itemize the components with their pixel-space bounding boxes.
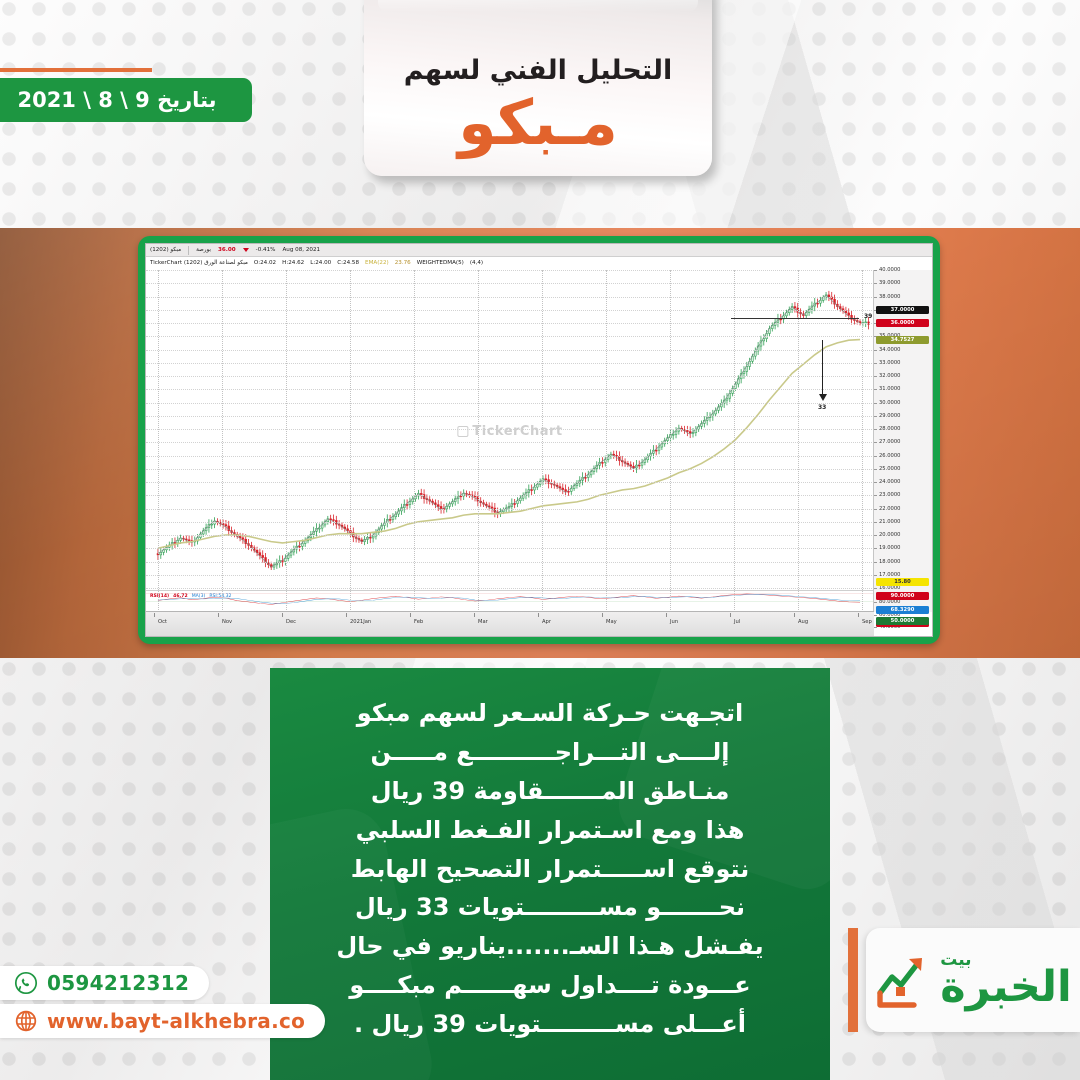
whatsapp-icon [14, 971, 38, 995]
chart-change-pct: -0.41% [256, 245, 276, 256]
contact-website[interactable]: www.bayt-alkhebra.co [0, 1004, 325, 1038]
grid-vline [606, 270, 607, 612]
rsi-badge: 50.0000 [876, 617, 929, 625]
price-badge: 34.7527 [876, 336, 929, 344]
grid-vline [734, 270, 735, 612]
analysis-line-8: عـــودة تــــداول سهــــــم مبكــــو [292, 966, 808, 1005]
watermark-box-icon [457, 426, 468, 437]
date-tick: Feb [414, 619, 423, 625]
grid-vline [670, 270, 671, 612]
grid-hline [146, 456, 874, 457]
grid-hline [146, 469, 874, 470]
price-tick: 33.0000 [879, 361, 900, 366]
grid-vline [862, 270, 863, 612]
watermark-text: TickerChart [472, 424, 562, 439]
chart-plot-area: TickerChart 39 33 RSI(14) 46.72 MA(3) RS… [146, 270, 874, 612]
title-card: التحليل الفني لسهم مـبكو [364, 0, 712, 176]
grid-hline [146, 403, 874, 404]
analysis-line-9: أعـــلى مســـــــــتويات 39 ريال . [292, 1005, 808, 1044]
grid-hline [146, 509, 874, 510]
title-card-sheen [378, 0, 698, 12]
grid-hline [146, 416, 874, 417]
logo-accent-stripe [848, 928, 858, 1032]
rsi-pane: RSI(14) 46.72 MA(3) RSI:54.32 [146, 590, 874, 612]
price-tick: 25.0000 [879, 467, 900, 472]
grid-hline [146, 283, 874, 284]
target-arrow-stem [822, 340, 823, 396]
grid-hline [146, 575, 874, 576]
price-tick: 16.0000 [879, 586, 900, 591]
ohlc-low: L:24.00 [310, 258, 331, 269]
chart-date: Aug 08, 2021 [282, 245, 320, 256]
grid-hline [146, 350, 874, 351]
date-axis: OctNovDec2021JanFebMarAprMayJunJulAugSep [146, 611, 874, 636]
price-axis: 40.000039.000038.000037.000036.000035.00… [873, 270, 932, 612]
grid-hline [146, 588, 874, 589]
rsi-value: 46.72 [173, 591, 188, 602]
date-tick: Oct [158, 619, 167, 625]
grid-vline [222, 270, 223, 612]
grid-hline [146, 310, 874, 311]
grid-vline [542, 270, 543, 612]
target-label: 33 [818, 404, 826, 411]
date-tick: May [606, 619, 617, 625]
grid-hline [146, 562, 874, 563]
ohlc-source: TickerChart مبكو لصناعة الورق (1202) [150, 258, 248, 269]
analysis-line-3: منـاطق المـــــــقاومة 39 ريال [292, 772, 808, 811]
chart-screenshot: مبكو (1202) بورصة 36.00 -0.41% Aug 08, 2… [145, 243, 933, 637]
grid-vline [286, 270, 287, 612]
price-tick: 34.0000 [879, 348, 900, 353]
rsi-header: RSI(14) 46.72 MA(3) RSI:54.32 [146, 591, 874, 601]
grid-hline [146, 535, 874, 536]
globe-icon [14, 1009, 38, 1033]
analysis-line-7: يفـشل هـذا السـ.......يناريو في حال [292, 927, 808, 966]
grid-hline [146, 389, 874, 390]
grid-hline [146, 522, 874, 523]
chart-frame: مبكو (1202) بورصة 36.00 -0.41% Aug 08, 2… [138, 236, 940, 644]
analysis-line-6: نحـــــــو مســـــــــتويات 33 ريال [292, 888, 808, 927]
grid-vline [478, 270, 479, 612]
price-tick: 38.0000 [879, 295, 900, 300]
page-subtitle: التحليل الفني لسهم [404, 57, 673, 84]
ema-label: EMA(22) [365, 258, 389, 269]
price-badge: 37.0000 [876, 306, 929, 314]
page-title: مـبكو [458, 92, 618, 154]
price-tick: 26.0000 [879, 454, 900, 459]
price-tick: 22.0000 [879, 507, 900, 512]
chart-market: بورصة [196, 245, 211, 256]
grid-hline [146, 482, 874, 483]
price-tick: 21.0000 [879, 520, 900, 525]
grid-hline [146, 336, 874, 337]
grid-hline [146, 548, 874, 549]
price-tick: 20.0000 [879, 533, 900, 538]
price-tick: 29.0000 [879, 414, 900, 419]
price-tick: 39.0000 [879, 281, 900, 286]
price-tick: 28.0000 [879, 427, 900, 432]
price-tick: 27.0000 [879, 440, 900, 445]
logo-wordmark: بيت الخبرة [940, 952, 1072, 1009]
resistance-label: 39 [864, 313, 872, 320]
date-tick: Apr [542, 619, 551, 625]
date-tick: Nov [222, 619, 232, 625]
date-tick: 2021Jan [350, 619, 371, 625]
analysis-panel: اتجـهت حـركة السـعر لسهم مبكوإلــــى الت… [270, 668, 830, 1080]
price-tick: 30.0000 [879, 401, 900, 406]
price-tick: 18.0000 [879, 560, 900, 565]
price-tick: 24.0000 [879, 480, 900, 485]
analysis-line-4: هذا ومع اسـتمرار الفـغط السلبي [292, 811, 808, 850]
phone-number: 0594212312 [47, 971, 189, 995]
grid-hline [146, 323, 874, 324]
price-tick: 19.0000 [879, 546, 900, 551]
rsi-badge: 68.3290 [876, 606, 929, 614]
grid-hline [146, 442, 874, 443]
grid-vline [798, 270, 799, 612]
analysis-line-1: اتجـهت حـركة السـعر لسهم مبكو [292, 694, 808, 733]
rsi-tick: 80.0000 [879, 600, 900, 605]
price-tick: 31.0000 [879, 387, 900, 392]
price-tick: 32.0000 [879, 374, 900, 379]
house-growth-arrow-icon [874, 947, 936, 1013]
wma-label: WEIGHTEDMA(5) [417, 258, 464, 269]
date-tick: Jul [734, 619, 740, 625]
chart-toolbar: مبكو (1202) بورصة 36.00 -0.41% Aug 08, 2… [146, 244, 932, 257]
chart-last-price: 36.00 [218, 245, 236, 256]
date-badge: بتاريخ 9 \ 8 \ 2021 [0, 78, 252, 122]
rsi-ma-value: RSI:54.32 [209, 591, 231, 602]
poster-stage: بتاريخ 9 \ 8 \ 2021 التحليل الفني لسهم م… [0, 0, 1080, 1080]
grid-vline [414, 270, 415, 612]
grid-vline [350, 270, 351, 612]
analysis-line-5: نتوقع اســـــتمرار التصحيح الهابط [292, 850, 808, 889]
ohlc-high: H:24.62 [282, 258, 304, 269]
ema-value: 23.76 [395, 258, 411, 269]
resistance-line [731, 318, 859, 319]
grid-hline [146, 270, 874, 271]
price-tick: 40.0000 [879, 268, 900, 273]
date-tick: Aug [798, 619, 808, 625]
ohlc-close: C:24.58 [337, 258, 359, 269]
ohlc-open: O:24.02 [254, 258, 276, 269]
grid-hline [146, 495, 874, 496]
target-arrow-head [819, 394, 827, 401]
price-tick: 23.0000 [879, 493, 900, 498]
date-tick: Sep [862, 619, 872, 625]
chart-symbol: مبكو (1202) [150, 245, 181, 256]
grid-hline [146, 429, 874, 430]
brand-logo[interactable]: بيت الخبرة [866, 928, 1080, 1032]
grid-vline [158, 270, 159, 612]
grid-hline [146, 376, 874, 377]
grid-hline [146, 297, 874, 298]
chart-ohlc-row: TickerChart مبكو لصناعة الورق (1202) O:2… [146, 257, 932, 270]
tickerchart-watermark: TickerChart [457, 424, 562, 439]
price-pane: TickerChart 39 33 [146, 270, 874, 588]
date-accent-rule [0, 68, 152, 72]
triangle-down-icon [243, 248, 249, 252]
date-tick: Jun [670, 619, 678, 625]
price-badge: 36.0000 [876, 319, 929, 327]
website-url: www.bayt-alkhebra.co [47, 1009, 305, 1033]
logo-main-word: الخبرة [940, 966, 1072, 1009]
rsi-badge: 90.0000 [876, 592, 929, 600]
analysis-line-2: إلــــى التـــراجــــــــــع مـــــن [292, 733, 808, 772]
grid-hline [146, 363, 874, 364]
date-tick: Dec [286, 619, 296, 625]
rsi-label: RSI(14) [150, 591, 169, 602]
analysis-text: اتجـهت حـركة السـعر لسهم مبكوإلــــى الت… [270, 668, 830, 1044]
price-badge: 15.80 [876, 578, 929, 586]
date-tick: Mar [478, 619, 488, 625]
contact-phone[interactable]: 0594212312 [0, 966, 209, 1000]
rsi-ma-label: MA(3) [192, 591, 206, 602]
toolbar-divider [188, 246, 189, 255]
wma-value: (4,4) [470, 258, 483, 269]
